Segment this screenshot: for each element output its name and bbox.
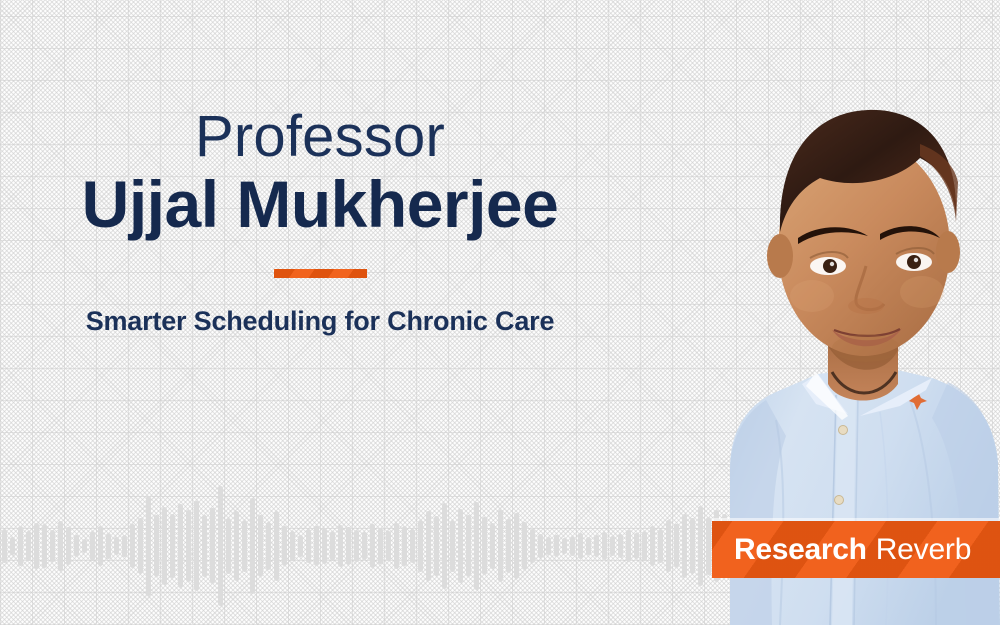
waveform-bar xyxy=(26,531,31,561)
audio-waveform xyxy=(0,493,640,598)
waveform-bar xyxy=(106,533,111,559)
waveform-bar xyxy=(338,525,343,567)
waveform-bar xyxy=(410,529,415,563)
waveform-bar xyxy=(274,511,279,581)
waveform-bar xyxy=(266,522,271,570)
waveform-bar xyxy=(426,511,431,581)
waveform-bar xyxy=(298,535,303,557)
guest-name: Ujjal Mukherjee xyxy=(0,170,640,239)
waveform-bar xyxy=(434,516,439,576)
waveform-bar xyxy=(306,529,311,563)
waveform-bar xyxy=(10,537,15,555)
waveform-bar xyxy=(386,531,391,561)
waveform-bar xyxy=(186,510,191,582)
waveform-bar xyxy=(218,486,223,606)
waveform-bar xyxy=(130,524,135,568)
waveform-bar xyxy=(546,537,551,555)
waveform-bar xyxy=(90,531,95,561)
waveform-bar xyxy=(66,527,71,565)
waveform-bar xyxy=(330,531,335,561)
orange-divider-rule xyxy=(274,269,367,278)
waveform-bar xyxy=(354,530,359,562)
waveform-bar xyxy=(498,510,503,582)
waveform-bar xyxy=(178,504,183,588)
waveform-bar xyxy=(242,520,247,572)
waveform-bar xyxy=(154,515,159,577)
waveform-bar xyxy=(490,523,495,569)
waveform-bar xyxy=(442,503,447,589)
headline-block: Professor Ujjal Mukherjee Smarter Schedu… xyxy=(0,108,640,337)
waveform-bar xyxy=(554,535,559,557)
waveform-bar xyxy=(138,518,143,574)
waveform-bar xyxy=(530,529,535,563)
waveform-bar xyxy=(58,521,63,571)
waveform-bar xyxy=(522,522,527,570)
waveform-bar xyxy=(466,515,471,577)
waveform-bar xyxy=(482,517,487,575)
waveform-bar xyxy=(394,523,399,569)
waveform-bar xyxy=(314,526,319,566)
waveform-bar xyxy=(370,524,375,568)
brand-name-light: Reverb xyxy=(876,533,972,567)
brand-badge: Research Reverb xyxy=(712,521,1000,578)
waveform-bar xyxy=(514,513,519,579)
waveform-bar xyxy=(562,538,567,554)
waveform-bar xyxy=(282,526,287,566)
waveform-bar xyxy=(474,502,479,590)
waveform-bar xyxy=(226,518,231,574)
waveform-bar xyxy=(50,530,55,562)
waveform-bar xyxy=(458,509,463,583)
waveform-bar xyxy=(506,519,511,573)
waveform-bar xyxy=(2,529,7,563)
waveform-bar xyxy=(210,508,215,584)
waveform-bar xyxy=(346,527,351,565)
waveform-bar xyxy=(34,523,39,569)
waveform-bar xyxy=(570,536,575,556)
waveform-bar xyxy=(322,528,327,564)
waveform-bar xyxy=(202,515,207,577)
waveform-bar xyxy=(42,524,47,568)
waveform-bar xyxy=(538,534,543,558)
waveform-bar xyxy=(98,526,103,566)
waveform-bar xyxy=(450,520,455,572)
waveform-bar xyxy=(162,507,167,585)
brand-name-strong: Research xyxy=(734,533,867,567)
waveform-bar xyxy=(146,496,151,596)
waveform-bar xyxy=(114,537,119,555)
waveform-bar xyxy=(234,511,239,581)
waveform-bar xyxy=(402,526,407,566)
waveform-bar xyxy=(122,535,127,557)
kicker-text: Professor xyxy=(0,108,640,166)
waveform-bar xyxy=(250,498,255,594)
episode-subtitle: Smarter Scheduling for Chronic Care xyxy=(0,306,640,337)
waveform-bar xyxy=(74,535,79,557)
waveform-bar xyxy=(18,526,23,566)
waveform-bar xyxy=(290,531,295,561)
waveform-bar xyxy=(194,501,199,591)
waveform-bar xyxy=(418,520,423,572)
waveform-bar xyxy=(378,528,383,564)
divider-wrap xyxy=(0,269,640,278)
waveform-bar xyxy=(258,515,263,577)
waveform-bar xyxy=(170,514,175,578)
waveform-bar xyxy=(362,532,367,560)
podcast-episode-card: Professor Ujjal Mukherjee Smarter Schedu… xyxy=(0,0,1000,625)
waveform-bar xyxy=(82,539,87,553)
